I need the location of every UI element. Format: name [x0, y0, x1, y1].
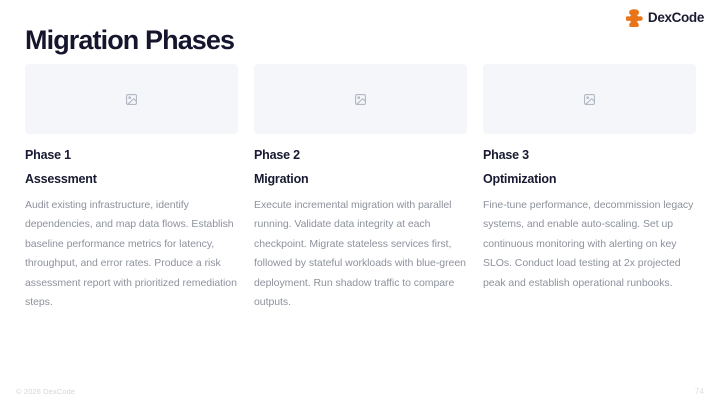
phase-label: Phase 3 [483, 148, 696, 163]
footer-copyright: © 2026 DexCode [16, 387, 75, 396]
phase-body: Audit existing infrastructure, identify … [25, 196, 238, 313]
brand-logo: DexCode [626, 9, 704, 27]
image-placeholder-icon [583, 93, 596, 106]
phase-card-2: Phase 2 Migration Execute incremental mi… [254, 64, 467, 313]
dexcode-blob-logo-icon [626, 9, 643, 27]
image-placeholder-3 [483, 64, 696, 134]
phase-label: Phase 2 [254, 148, 467, 163]
phase-card-1: Phase 1 Assessment Audit existing infras… [25, 64, 238, 313]
phase-title: Optimization [483, 172, 696, 187]
image-placeholder-2 [254, 64, 467, 134]
phase-card-3: Phase 3 Optimization Fine-tune performan… [483, 64, 696, 313]
brand-name: DexCode [648, 11, 704, 25]
phase-label: Phase 1 [25, 148, 238, 163]
slide-canvas: DexCode Migration Phases Phase 1 Assessm… [0, 0, 720, 405]
image-placeholder-icon [354, 93, 367, 106]
image-placeholder-icon [125, 93, 138, 106]
phase-body: Execute incremental migration with paral… [254, 196, 467, 313]
page-title: Migration Phases [25, 26, 234, 56]
footer-page-number: 74 [695, 387, 704, 396]
phase-body: Fine-tune performance, decommission lega… [483, 196, 696, 293]
phase-title: Assessment [25, 172, 238, 187]
phase-columns: Phase 1 Assessment Audit existing infras… [25, 64, 695, 313]
image-placeholder-1 [25, 64, 238, 134]
phase-title: Migration [254, 172, 467, 187]
